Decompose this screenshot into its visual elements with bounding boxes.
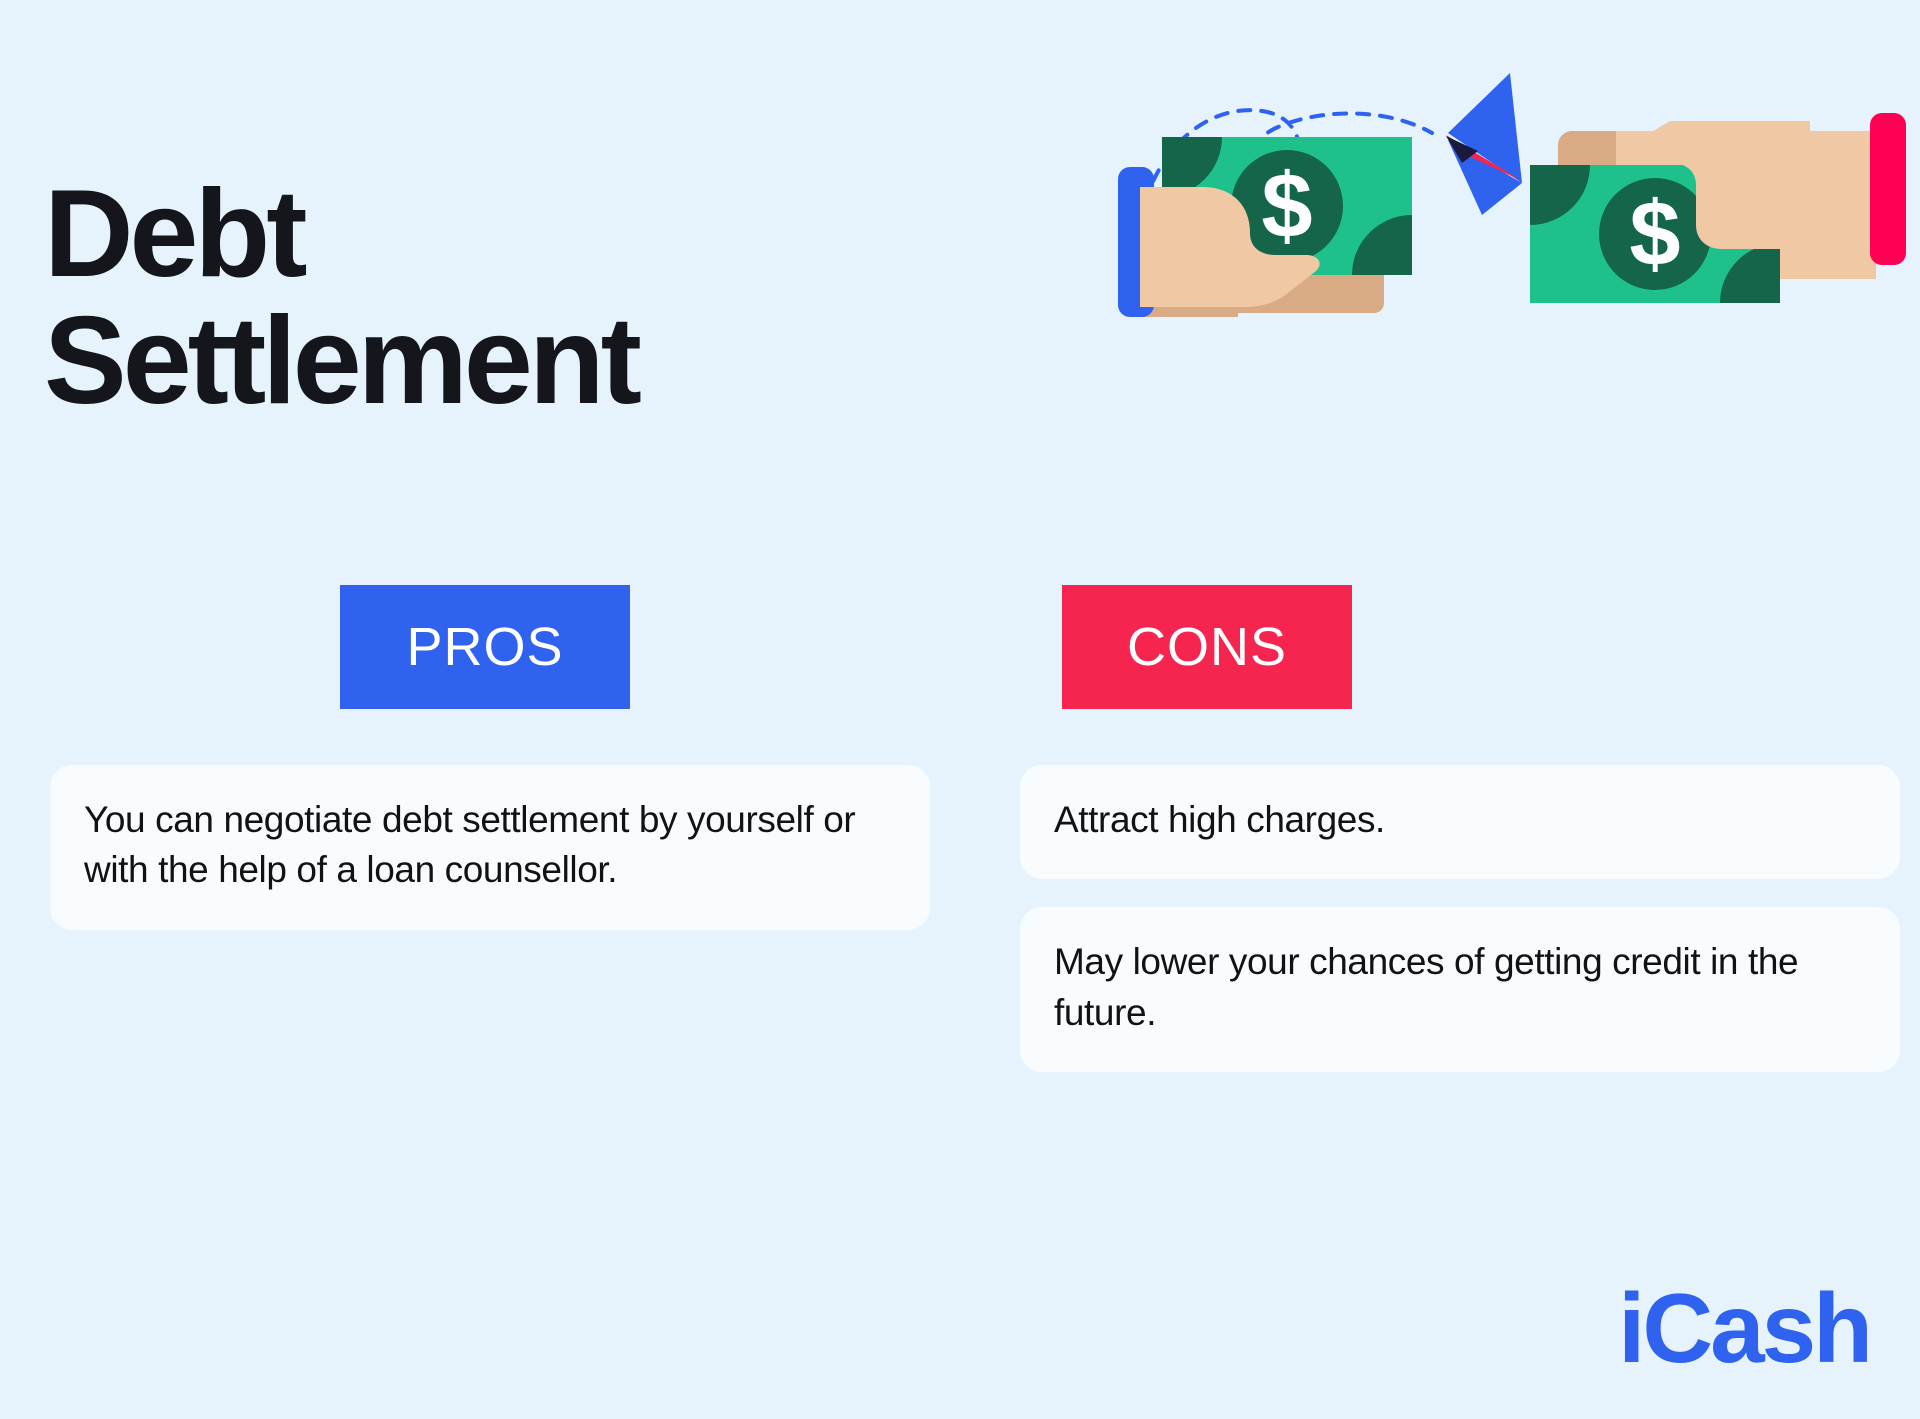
cons-item-text: May lower your chances of getting credit…: [1054, 937, 1866, 1038]
pros-item-text: You can negotiate debt settlement by you…: [84, 795, 896, 896]
cons-card: Attract high charges.: [1020, 765, 1900, 879]
banknote-dollar-symbol-left: $: [1261, 155, 1312, 257]
left-hand-with-banknote-icon: $: [1118, 137, 1412, 317]
pros-column: PROS You can negotiate debt settlement b…: [50, 585, 930, 930]
cons-card: May lower your chances of getting credit…: [1020, 907, 1900, 1072]
paper-plane-icon: [1446, 73, 1522, 215]
cons-card-stack: Attract high charges. May lower your cha…: [1020, 765, 1900, 1072]
money-exchange-illustration: $ $: [1110, 55, 1920, 385]
pros-card: You can negotiate debt settlement by you…: [50, 765, 930, 930]
banknote-dollar-symbol-right: $: [1629, 183, 1680, 285]
cons-item-text: Attract high charges.: [1054, 795, 1866, 845]
infographic-canvas: Debt Settlement: [0, 0, 1920, 1419]
icash-logo: iCash: [1618, 1279, 1870, 1377]
right-hand-with-banknote-icon: $: [1530, 113, 1906, 303]
pros-badge: PROS: [340, 585, 630, 709]
page-title: Debt Settlement: [44, 171, 944, 424]
pros-card-stack: You can negotiate debt settlement by you…: [50, 765, 930, 930]
cons-column: CONS Attract high charges. May lower you…: [1020, 585, 1900, 1072]
cons-badge: CONS: [1062, 585, 1352, 709]
